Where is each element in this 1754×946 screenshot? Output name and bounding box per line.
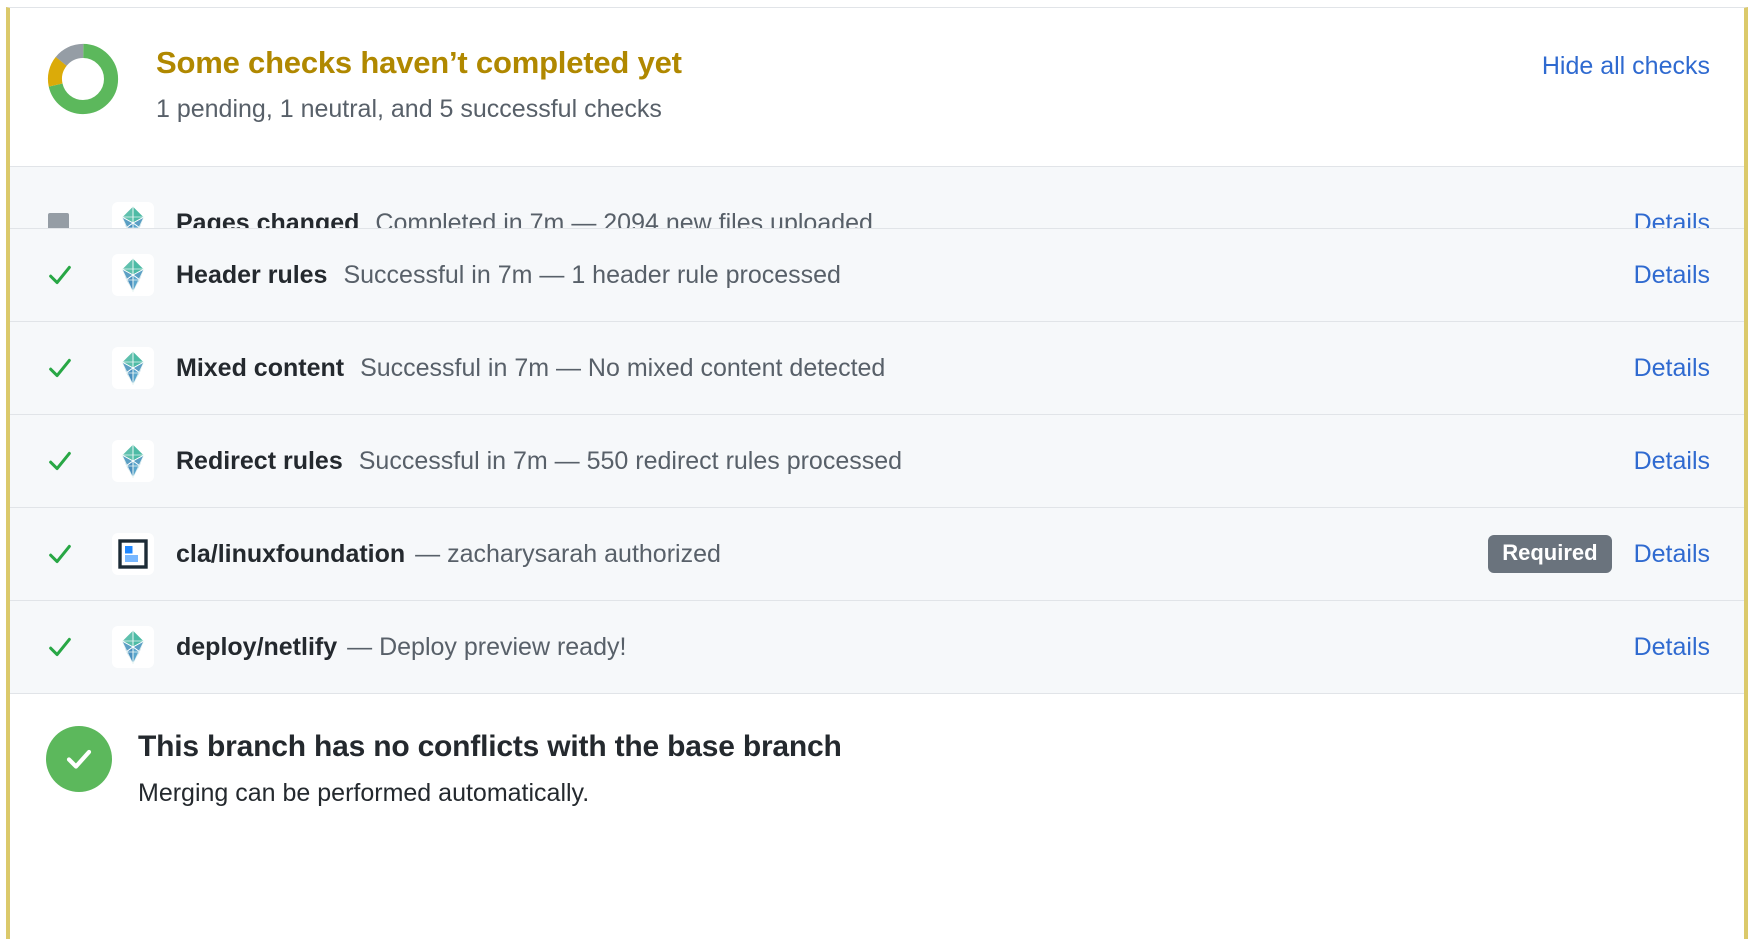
check-description: — Deploy preview ready! <box>347 633 626 662</box>
merge-status-block: This branch has no conflicts with the ba… <box>10 694 1744 874</box>
check-name: Mixed content <box>176 354 344 383</box>
check-description: — zacharysarah authorized <box>415 540 721 569</box>
check-icon-glyph <box>46 447 74 475</box>
check-row-inner: Pages changedCompleted in 7m — 2094 new … <box>46 202 1710 229</box>
netlify-icon <box>112 254 154 296</box>
netlify-icon <box>112 440 154 482</box>
check-row-inner: cla/linuxfoundation— zacharysarah author… <box>46 533 1710 575</box>
check-icon <box>46 354 92 382</box>
check-icon-glyph <box>46 540 74 568</box>
merge-text-block: This branch has no conflicts with the ba… <box>138 726 842 809</box>
details-link[interactable]: Details <box>1634 633 1710 662</box>
check-circle-icon <box>46 726 112 792</box>
check-row-inner: Header rulesSuccessful in 7m — 1 header … <box>46 254 1710 296</box>
netlify-icon-glyph <box>113 203 153 229</box>
check-row: Redirect rulesSuccessful in 7m — 550 red… <box>10 415 1744 508</box>
details-link[interactable]: Details <box>1634 209 1710 230</box>
netlify-icon-glyph <box>113 441 153 481</box>
pr-checks-panel: Some checks haven’t completed yet 1 pend… <box>6 7 1748 939</box>
merge-status-title: This branch has no conflicts with the ba… <box>138 728 842 766</box>
check-row-inner: Mixed contentSuccessful in 7m — No mixed… <box>46 347 1710 389</box>
check-row-inner: deploy/netlify— Deploy preview ready!Det… <box>46 626 1710 668</box>
check-description: Completed in 7m — 2094 new files uploade… <box>375 209 873 230</box>
linux-foundation-icon <box>112 533 154 575</box>
check-icon-glyph <box>46 633 74 661</box>
netlify-icon-glyph <box>113 627 153 667</box>
neutral-square-icon <box>46 213 92 230</box>
check-description: Successful in 7m — 550 redirect rules pr… <box>359 447 902 476</box>
check-description: Successful in 7m — No mixed content dete… <box>360 354 885 383</box>
netlify-icon <box>112 626 154 668</box>
checks-donut-chart <box>46 38 130 116</box>
netlify-icon <box>112 347 154 389</box>
donut-svg <box>46 42 120 116</box>
merge-status-subtitle: Merging can be performed automatically. <box>138 777 842 810</box>
details-link[interactable]: Details <box>1634 354 1710 383</box>
check-name: deploy/netlify <box>176 633 337 662</box>
check-name: Redirect rules <box>176 447 343 476</box>
details-link[interactable]: Details <box>1634 540 1710 569</box>
checks-summary-header: Some checks haven’t completed yet 1 pend… <box>10 8 1744 166</box>
netlify-icon-glyph <box>113 348 153 388</box>
linux-foundation-icon-glyph <box>113 534 153 574</box>
check-row: Header rulesSuccessful in 7m — 1 header … <box>10 229 1744 322</box>
summary-text-block: Some checks haven’t completed yet 1 pend… <box>156 38 1744 125</box>
check-name: Header rules <box>176 261 327 290</box>
checks-list: Pages changedCompleted in 7m — 2094 new … <box>10 166 1744 694</box>
check-icon <box>46 447 92 475</box>
check-description: Successful in 7m — 1 header rule process… <box>343 261 840 290</box>
neutral-square-glyph <box>48 213 69 230</box>
check-row: deploy/netlify— Deploy preview ready!Det… <box>10 601 1744 694</box>
check-row: Pages changedCompleted in 7m — 2094 new … <box>10 167 1744 229</box>
check-icon-glyph <box>46 354 74 382</box>
hide-all-checks-link[interactable]: Hide all checks <box>1542 52 1710 81</box>
check-icon <box>46 261 92 289</box>
details-link[interactable]: Details <box>1634 447 1710 476</box>
details-link[interactable]: Details <box>1634 261 1710 290</box>
required-badge: Required <box>1488 535 1611 573</box>
check-row-inner: Redirect rulesSuccessful in 7m — 550 red… <box>46 440 1710 482</box>
check-circle-glyph <box>61 741 97 777</box>
check-name: cla/linuxfoundation <box>176 540 405 569</box>
check-icon <box>46 540 92 568</box>
summary-title: Some checks haven’t completed yet <box>156 44 1744 83</box>
check-row: Mixed contentSuccessful in 7m — No mixed… <box>10 322 1744 415</box>
check-icon-glyph <box>46 261 74 289</box>
netlify-icon-glyph <box>113 255 153 295</box>
check-icon <box>46 633 92 661</box>
check-row: cla/linuxfoundation— zacharysarah author… <box>10 508 1744 601</box>
netlify-icon <box>112 202 154 229</box>
check-name: Pages changed <box>176 209 359 230</box>
summary-subtitle: 1 pending, 1 neutral, and 5 successful c… <box>156 93 1744 126</box>
